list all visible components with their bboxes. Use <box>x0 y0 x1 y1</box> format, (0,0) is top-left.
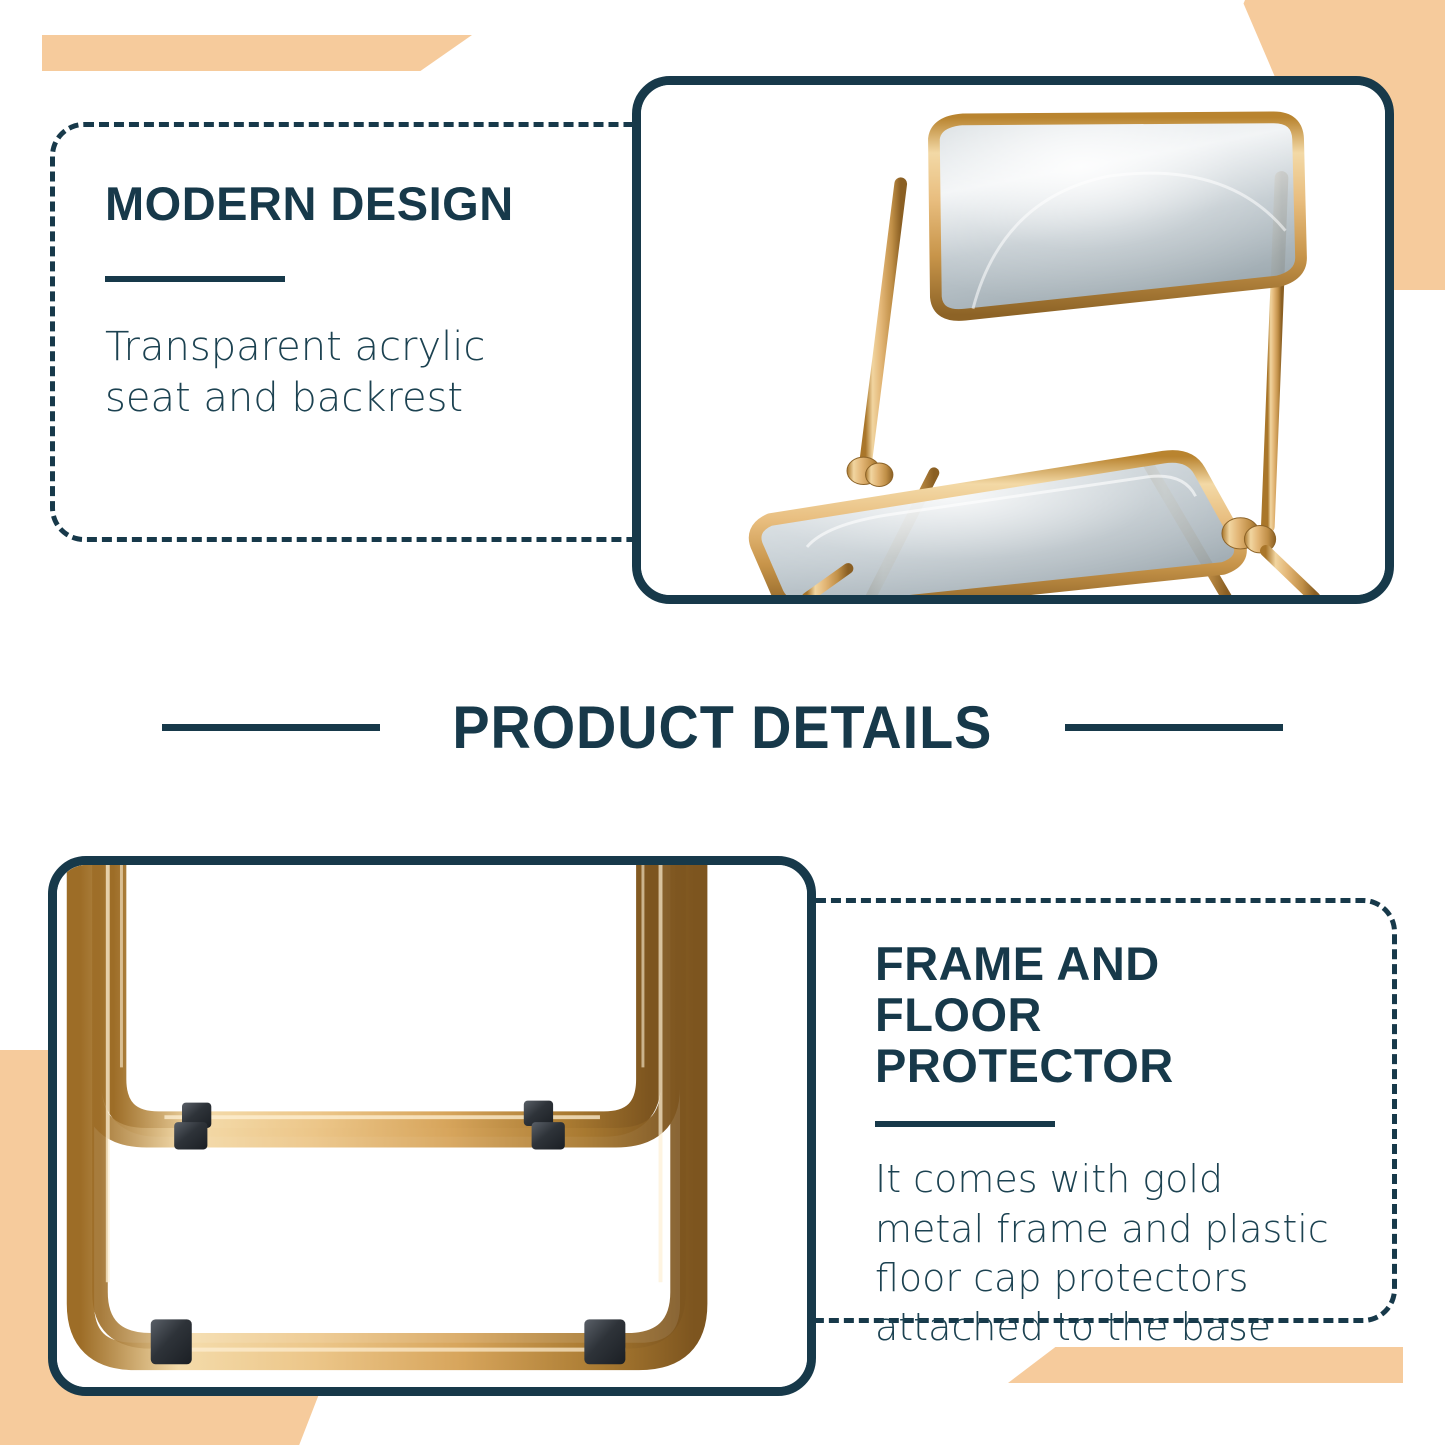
chair-photo-illustration <box>641 85 1385 595</box>
card-frame-protector-divider <box>875 1121 1055 1127</box>
card-frame-protector-title: FRAME AND FLOOR PROTECTOR <box>875 939 1352 1091</box>
photo-card-chair <box>632 76 1394 604</box>
card-modern-design-title: MODERN DESIGN <box>105 179 655 230</box>
card-frame-protector-body: It comes with gold metal frame and plast… <box>875 1155 1352 1353</box>
banner-title: PRODUCT DETAILS <box>453 693 993 762</box>
card-frame-protector-content: FRAME AND FLOOR PROTECTOR It comes with … <box>875 939 1352 1353</box>
banner-rule-left <box>162 724 380 731</box>
infographic-canvas: MODERN DESIGN Transparent acrylic seat a… <box>0 0 1445 1445</box>
frame-photo-illustration <box>57 865 807 1387</box>
banner-rule-right <box>1065 724 1283 731</box>
card-modern-design-body: Transparent acrylic seat and backrest <box>105 322 655 424</box>
decor-peach-top-left <box>42 35 472 71</box>
card-modern-design-content: MODERN DESIGN Transparent acrylic seat a… <box>105 179 655 424</box>
card-modern-design: MODERN DESIGN Transparent acrylic seat a… <box>50 122 700 542</box>
section-banner: PRODUCT DETAILS <box>0 680 1445 775</box>
card-modern-design-divider <box>105 276 285 282</box>
photo-card-frame <box>48 856 816 1396</box>
card-frame-protector: FRAME AND FLOOR PROTECTOR It comes with … <box>752 898 1397 1323</box>
